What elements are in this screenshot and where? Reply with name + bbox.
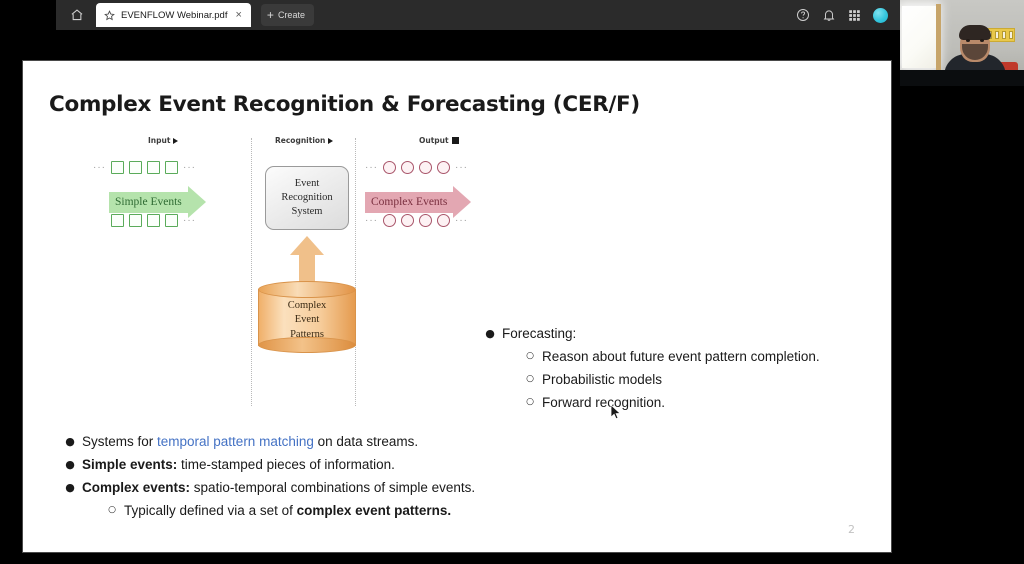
create-button-label: Create: [278, 10, 305, 20]
bullet-hollow-icon: ○: [100, 500, 124, 521]
simple-event-box: [129, 161, 142, 174]
inline-text: Typically defined via a set of: [124, 503, 297, 518]
inline-text: Systems for: [82, 434, 157, 449]
list-item: ○ Probabilistic models: [518, 369, 820, 390]
ers-line-2: Recognition: [281, 191, 332, 205]
forecasting-item-1: Reason about future event pattern comple…: [542, 346, 820, 367]
inline-text: Complex events:: [82, 480, 190, 495]
cylinder-line-3: Patterns: [258, 328, 356, 342]
bullet-filled-icon: ●: [478, 323, 502, 344]
event-recognition-system-box: Event Recognition System: [265, 166, 349, 230]
section-label-recognition: Recognition: [275, 136, 333, 145]
notifications-bell-icon[interactable]: [821, 8, 836, 23]
bullet-filled-icon: ●: [58, 454, 82, 475]
list-item: ● Forecasting:: [478, 323, 820, 344]
bullet-hollow-icon: ○: [518, 346, 542, 367]
list-item: ●Systems for temporal pattern matching o…: [58, 431, 475, 452]
ers-line-3: System: [292, 205, 323, 219]
cylinder-label: Complex Event Patterns: [258, 299, 356, 342]
simple-event-box: [147, 161, 160, 174]
arrow-head: [188, 186, 206, 218]
video-letterbox: [900, 70, 1024, 86]
section-label-output-text: Output: [419, 136, 449, 145]
tab-close-icon[interactable]: ×: [233, 10, 243, 21]
complex-event-patterns-store: Complex Event Patterns: [258, 281, 356, 353]
divider-recognition-output: [355, 138, 356, 406]
section-label-input-text: Input: [148, 136, 170, 145]
complex-event-circle: [383, 161, 396, 174]
tab-bar-right: [795, 0, 900, 30]
simple-event-box: [165, 161, 178, 174]
complex-events-arrow: Complex Events: [365, 186, 471, 218]
ellipsis-left: ···: [365, 163, 378, 173]
tab-title: EVENFLOW Webinar.pdf: [121, 10, 227, 21]
user-avatar[interactable]: [873, 8, 888, 23]
bullet-filled-icon: ●: [58, 431, 82, 452]
triangle-marker-icon: [173, 138, 178, 144]
presenter-video-thumbnail[interactable]: [900, 0, 1024, 86]
simple-events-arrow-label: Simple Events: [109, 196, 188, 208]
browser-tab-bar: EVENFLOW Webinar.pdf × + Create: [56, 0, 900, 30]
apps-grid-icon[interactable]: [847, 8, 862, 23]
list-item: ●Complex events: spatio-temporal combina…: [58, 477, 475, 498]
arrow-body: Complex Events: [365, 192, 453, 213]
simple-events-arrow: Simple Events: [109, 186, 206, 218]
inline-link[interactable]: temporal pattern matching: [157, 434, 314, 449]
ers-line-1: Event: [295, 177, 320, 191]
tab-bar-left: EVENFLOW Webinar.pdf × + Create: [56, 0, 314, 30]
complex-event-circle: [419, 161, 432, 174]
main-bullet-text-2: Simple events: time-stamped pieces of in…: [82, 454, 395, 475]
forecasting-item-3: Forward recognition.: [542, 392, 665, 413]
list-item: ○Typically defined via a set of complex …: [100, 500, 475, 521]
complex-event-circle: [401, 161, 414, 174]
cer-diagram: Input Recognition Output ··· ···: [83, 136, 528, 406]
patterns-to-ers-arrow: [290, 236, 324, 282]
cylinder-line-1: Complex: [258, 299, 356, 313]
arrow-head: [290, 236, 324, 255]
arrow-head: [453, 186, 471, 218]
presenter-hair: [959, 25, 991, 40]
ellipsis-left: ···: [93, 163, 106, 173]
main-bullet-text-4: Typically defined via a set of complex e…: [124, 500, 451, 521]
inline-text: complex event patterns.: [297, 503, 452, 518]
presenter-eye-left: [966, 39, 970, 42]
window-light: [902, 6, 936, 68]
help-icon[interactable]: [795, 8, 810, 23]
plus-icon: +: [267, 9, 274, 21]
forecasting-item-2: Probabilistic models: [542, 369, 662, 390]
divider-input-recognition: [251, 138, 252, 406]
window-frame: [936, 4, 941, 70]
inline-text: time-stamped pieces of information.: [177, 457, 395, 472]
section-label-recognition-text: Recognition: [275, 136, 325, 145]
arrow-stem: [299, 254, 315, 282]
list-item: ○ Reason about future event pattern comp…: [518, 346, 820, 367]
main-bullet-text-1: Systems for temporal pattern matching on…: [82, 431, 418, 452]
bullet-filled-icon: ●: [58, 477, 82, 498]
section-label-output: Output: [419, 136, 459, 145]
mouse-cursor: [610, 404, 622, 421]
main-bullet-text-3: Complex events: spatio-temporal combinat…: [82, 477, 475, 498]
home-icon[interactable]: [64, 2, 90, 28]
list-item: ●Simple events: time-stamped pieces of i…: [58, 454, 475, 475]
star-icon[interactable]: [104, 10, 115, 21]
square-marker-icon: [452, 137, 459, 144]
ellipsis-right: ···: [455, 163, 468, 173]
inline-text: spatio-temporal combinations of simple e…: [190, 480, 475, 495]
browser-tab-evenflow[interactable]: EVENFLOW Webinar.pdf ×: [96, 3, 251, 27]
screen: EVENFLOW Webinar.pdf × + Create: [0, 0, 1024, 564]
triangle-marker-icon: [328, 138, 333, 144]
forecasting-heading: Forecasting:: [502, 323, 576, 344]
pdf-slide-page[interactable]: Complex Event Recognition & Forecasting …: [22, 60, 892, 553]
inline-text: on data streams.: [314, 434, 418, 449]
page-title: Complex Event Recognition & Forecasting …: [49, 92, 640, 117]
inline-text: Simple events:: [82, 457, 177, 472]
complex-events-arrow-label: Complex Events: [365, 196, 453, 208]
forecasting-list: ● Forecasting: ○ Reason about future eve…: [478, 323, 820, 415]
list-item: ○ Forward recognition.: [518, 392, 820, 413]
create-button[interactable]: + Create: [261, 4, 314, 26]
presenter-eye-right: [980, 39, 984, 42]
complex-event-circle: [437, 161, 450, 174]
simple-event-box: [111, 161, 124, 174]
page-number: 2: [848, 523, 855, 536]
cylinder-line-2: Event: [258, 313, 356, 327]
simple-events-row-top: ··· ···: [93, 161, 196, 174]
complex-events-row-top: ··· ···: [365, 161, 468, 174]
arrow-body: Simple Events: [109, 192, 188, 213]
main-bullet-list: ●Systems for temporal pattern matching o…: [58, 431, 475, 523]
bullet-hollow-icon: ○: [518, 392, 542, 413]
cylinder-top: [258, 281, 356, 298]
ellipsis-right: ···: [183, 163, 196, 173]
section-label-input: Input: [148, 136, 178, 145]
bullet-hollow-icon: ○: [518, 369, 542, 390]
